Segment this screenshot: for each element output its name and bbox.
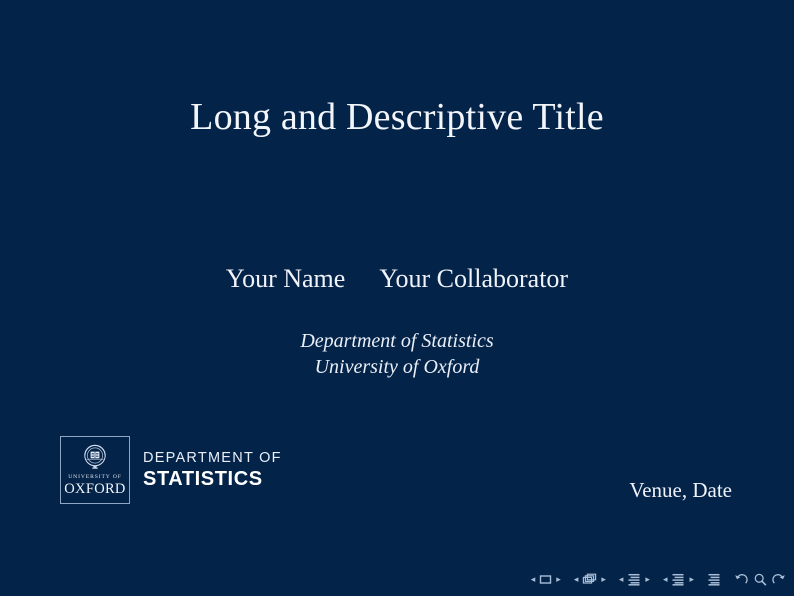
statistics-label: STATISTICS [143,469,282,489]
beamer-navigation-bar[interactable]: ◂ ▸ ◂ ▸ ◂ [531,569,786,589]
slide-next-icon[interactable]: ▸ [556,575,561,584]
forward-arrow-icon[interactable] [772,573,786,586]
subsection-lines-icon[interactable] [627,573,641,586]
history-navigation-group[interactable] [734,573,786,586]
authors-block: Your Name Your Collaborator [0,264,794,294]
institute-line-1: Department of Statistics [0,328,794,354]
subsection-navigation-group[interactable]: ◂ ▸ [619,573,650,586]
author-name-2: Your Collaborator [379,264,568,294]
institute-line-2: University of Oxford [0,354,794,380]
stacked-frames-icon[interactable] [582,573,597,585]
authors-row: Your Name Your Collaborator [226,264,568,294]
department-of-label: DEPARTMENT OF [143,451,282,466]
page-title: Long and Descriptive Title [0,96,794,140]
document-lines-icon[interactable] [707,573,721,586]
frame-navigation-group[interactable]: ◂ ▸ [574,573,606,585]
frame-next-icon[interactable]: ▸ [601,575,606,584]
slide-prev-icon[interactable]: ◂ [531,575,536,584]
crest-oxford-label: OXFORD [64,482,125,497]
venue-date: Venue, Date [629,478,732,503]
section-next-icon[interactable]: ▸ [689,575,694,584]
oxford-statistics-logo: UNIVERSITY OF OXFORD DEPARTMENT OF STATI… [60,436,282,504]
beamer-title-slide: Long and Descriptive Title Your Name You… [0,0,794,596]
subsection-prev-icon[interactable]: ◂ [619,575,624,584]
section-navigation-group[interactable]: ◂ ▸ [663,573,694,586]
frame-prev-icon[interactable]: ◂ [574,575,579,584]
department-wordmark: DEPARTMENT OF STATISTICS [143,451,282,489]
subsection-next-icon[interactable]: ▸ [645,575,650,584]
oxford-crest-box: UNIVERSITY OF OXFORD [60,436,130,504]
crest-university-label: UNIVERSITY OF [68,475,122,481]
search-icon[interactable] [753,573,767,586]
title-block: Long and Descriptive Title [0,96,794,140]
slide-navigation-group[interactable]: ◂ ▸ [531,574,561,585]
author-name-1: Your Name [226,264,345,294]
single-slide-icon[interactable] [539,574,552,585]
institute-block: Department of Statistics University of O… [0,328,794,381]
section-lines-icon[interactable] [671,573,685,586]
document-navigation-group[interactable] [707,573,721,586]
section-prev-icon[interactable]: ◂ [663,575,668,584]
oxford-crest-icon [80,442,110,472]
back-arrow-icon[interactable] [734,573,748,586]
